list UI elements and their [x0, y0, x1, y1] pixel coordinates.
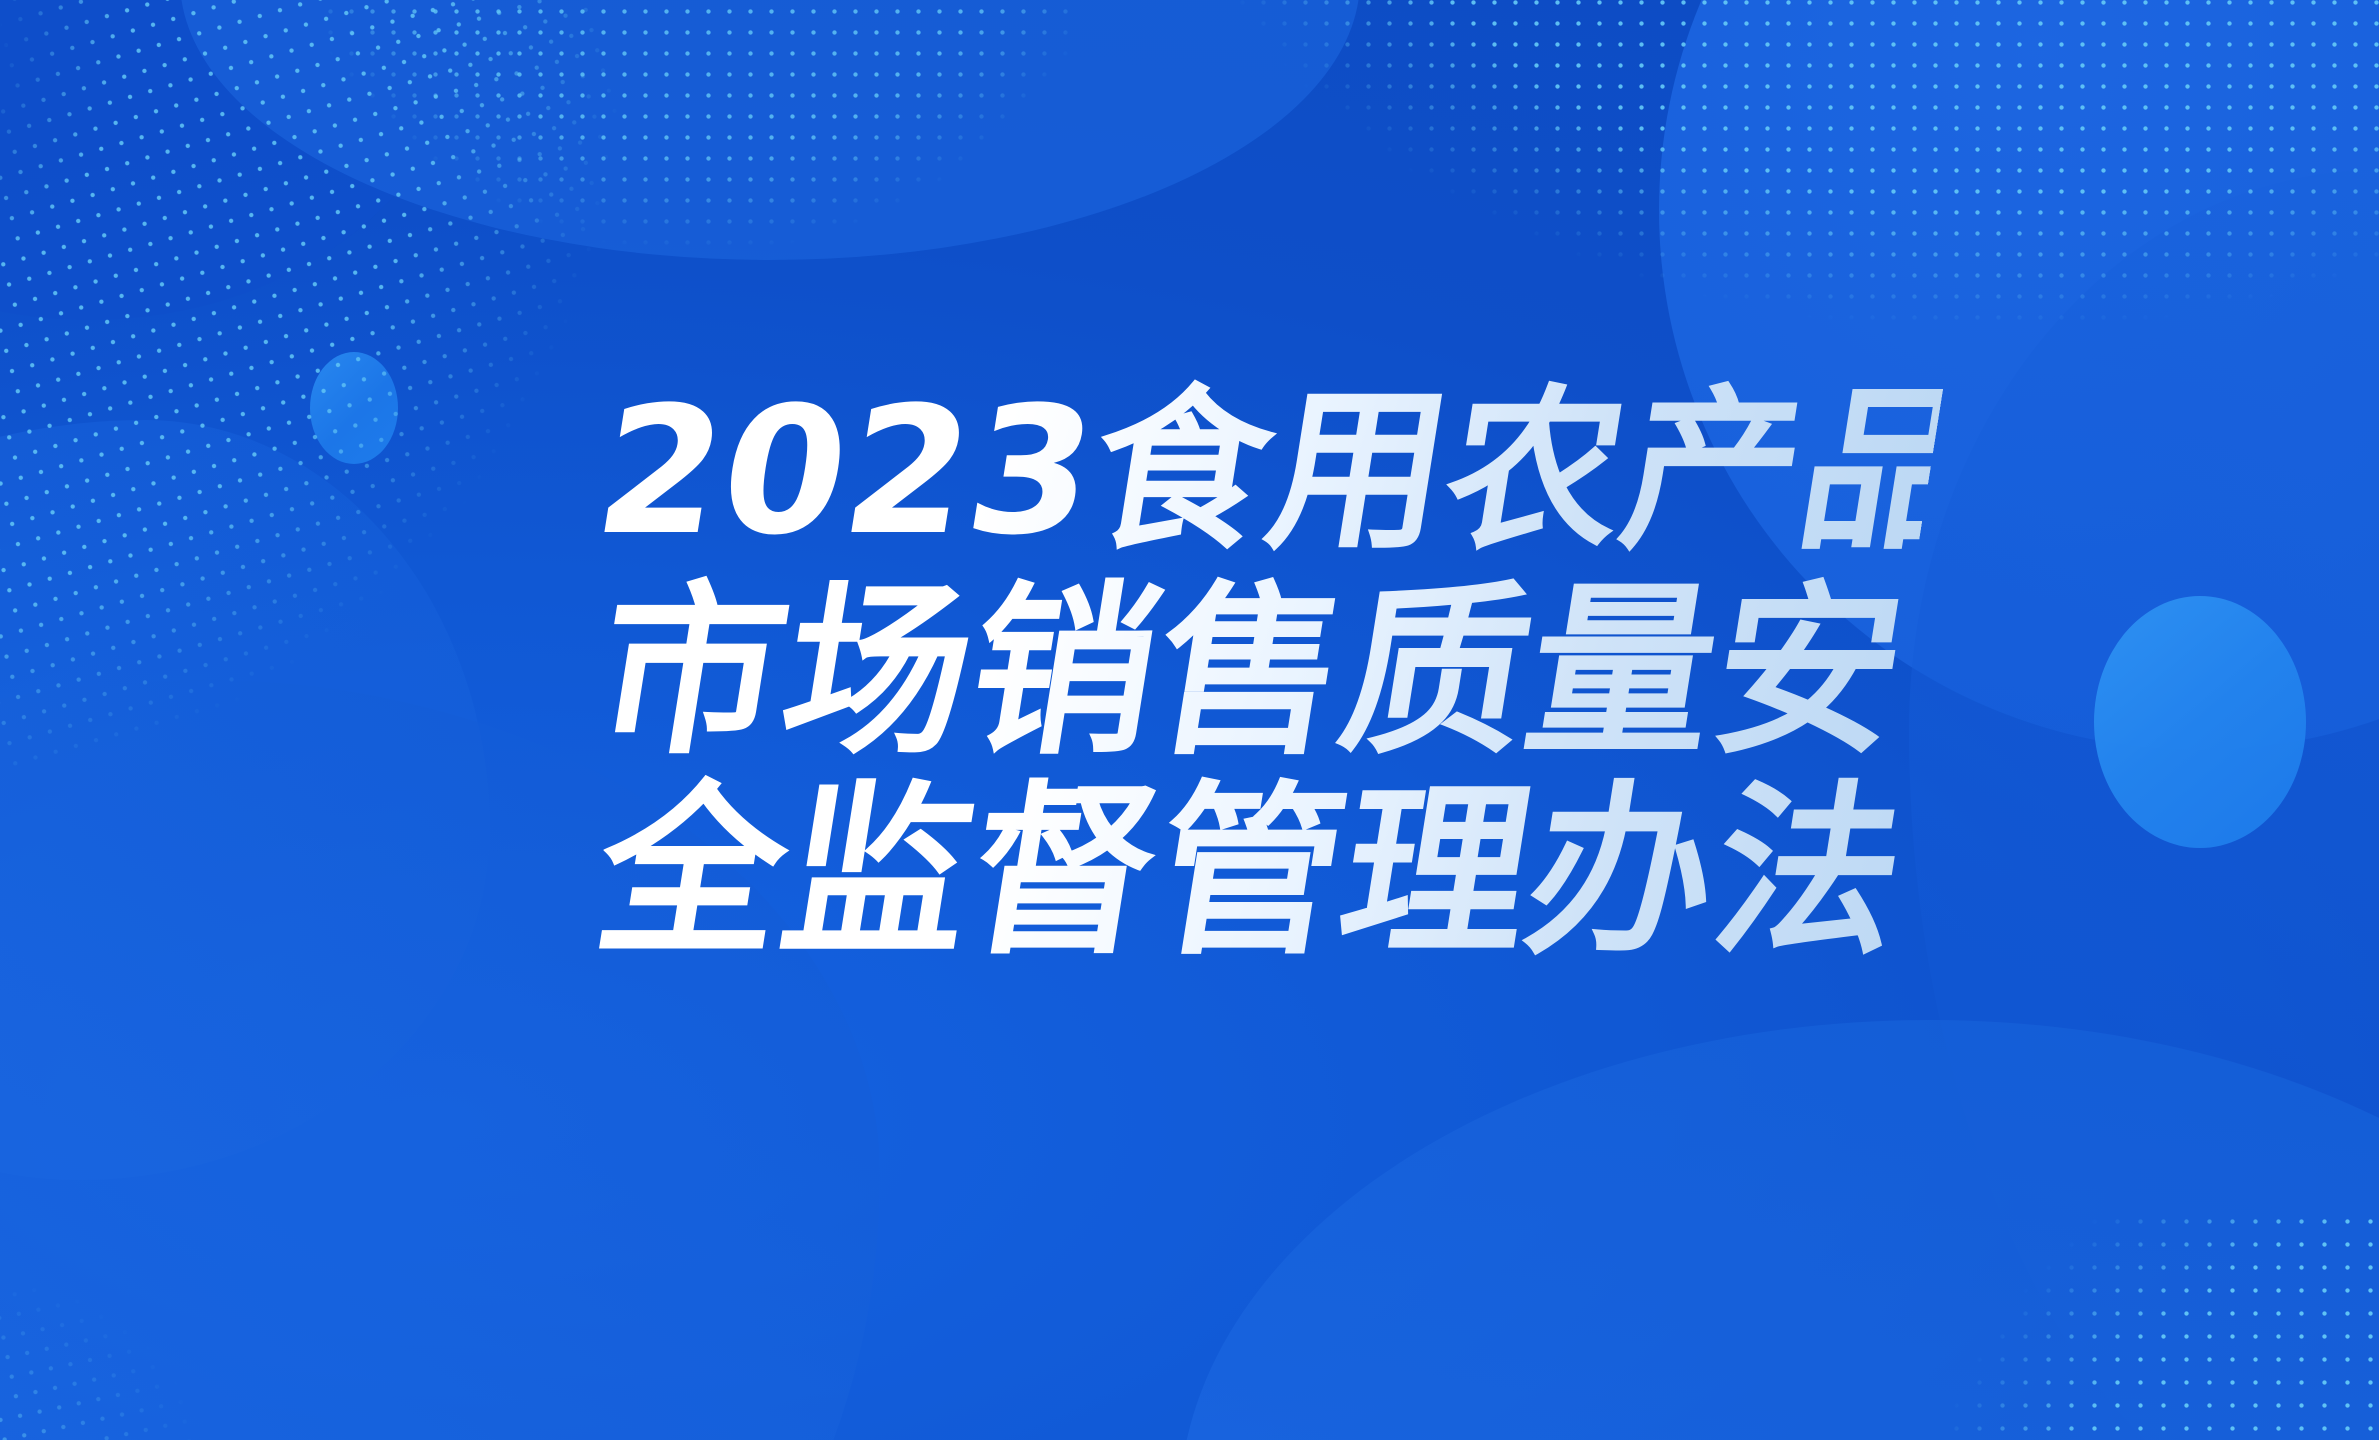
title-line-2: 市场销售质量安 — [584, 572, 1946, 772]
ellipse-left-accent — [310, 352, 398, 464]
ellipse-right-accent — [2094, 596, 2306, 848]
title-line-3: 全监督管理办法 — [584, 772, 1946, 972]
title-line-1: 2023食用农产品 — [584, 372, 1946, 572]
poster-canvas: 2023食用农产品 市场销售质量安 全监督管理办法 — [0, 0, 2379, 1440]
poster-title: 2023食用农产品 市场销售质量安 全监督管理办法 — [600, 372, 1930, 972]
